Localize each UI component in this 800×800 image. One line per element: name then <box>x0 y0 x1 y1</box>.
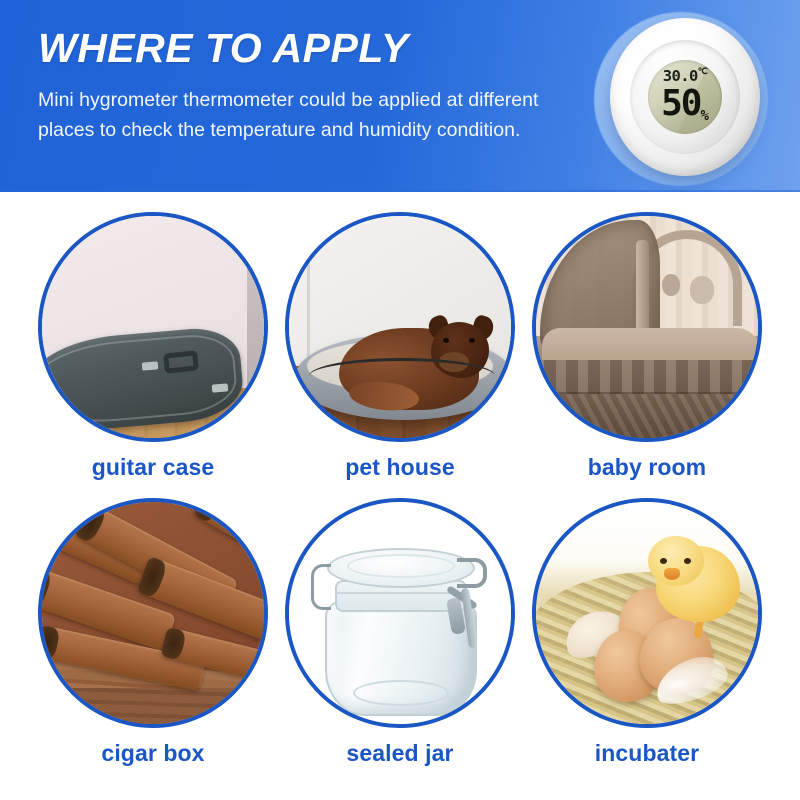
grid-item-baby-room: baby room <box>522 212 772 481</box>
hygrometer-thermometer-image: 30.0℃ 50% <box>586 6 776 192</box>
hanging-toy <box>690 276 714 304</box>
scene-baby-room <box>536 216 758 438</box>
lcd-humidity-reading: 50% <box>648 83 722 124</box>
grid-item-guitar-case: guitar case <box>28 212 278 481</box>
chick-beak <box>664 568 680 580</box>
photo-circle-guitar-case <box>38 212 268 442</box>
hanging-toy <box>662 274 680 296</box>
page-title: WHERE TO APPLY <box>38 25 409 71</box>
case-latch <box>142 361 159 370</box>
grid-item-sealed-jar: sealed jar <box>275 498 525 767</box>
scene-pet-house <box>289 216 511 438</box>
scene-sealed-jar <box>289 502 511 724</box>
bassinet-lace <box>536 394 758 438</box>
photo-circle-incubator <box>532 498 762 728</box>
banner-description: Mini hygrometer thermometer could be app… <box>38 85 563 145</box>
caption-guitar-case: guitar case <box>28 454 278 481</box>
chick-eye <box>660 558 667 564</box>
jar-lid-inner-ring <box>347 554 455 578</box>
thermometer-bezel: 30.0℃ 50% <box>630 40 740 154</box>
wall-corner <box>307 216 310 366</box>
jar-wire-bail-left <box>311 564 331 610</box>
thermometer-body: 30.0℃ 50% <box>610 18 760 176</box>
chick-eye <box>684 558 691 564</box>
lcd-temperature-unit: ℃ <box>698 67 708 77</box>
grid-item-cigar-box: cigar box <box>28 498 278 767</box>
caption-pet-house: pet house <box>275 454 525 481</box>
grid-item-incubator: incubater <box>522 498 772 767</box>
dog-eye <box>443 338 449 343</box>
wooden-box-front <box>42 688 264 724</box>
scene-incubator <box>536 502 758 724</box>
caption-sealed-jar: sealed jar <box>275 740 525 767</box>
wall-edge <box>247 216 264 388</box>
photo-circle-pet-house <box>285 212 515 442</box>
caption-cigar-box: cigar box <box>28 740 278 767</box>
jar-base <box>353 680 449 706</box>
photo-circle-baby-room <box>532 212 762 442</box>
product-infographic: WHERE TO APPLY Mini hygrometer thermomet… <box>0 0 800 800</box>
banner-divider <box>0 190 800 192</box>
lcd-humidity-unit: % <box>700 108 708 124</box>
pet-bed-trim <box>309 358 495 394</box>
grid-item-pet-house: pet house <box>275 212 525 481</box>
thermometer-lcd-screen: 30.0℃ 50% <box>648 60 722 134</box>
case-handle <box>163 350 199 373</box>
caption-incubator: incubater <box>522 740 772 767</box>
header-banner: WHERE TO APPLY Mini hygrometer thermomet… <box>0 0 800 192</box>
scene-guitar-case <box>42 216 264 438</box>
application-grid: guitar case <box>0 200 800 800</box>
jar-wire-bail-right <box>457 558 487 588</box>
scene-cigar-box <box>42 502 264 724</box>
dog-eye <box>469 338 475 343</box>
bassinet-ruffle <box>536 360 758 394</box>
photo-circle-sealed-jar <box>285 498 515 728</box>
photo-circle-cigar-box <box>38 498 268 728</box>
lcd-humidity-value: 50 <box>661 83 700 124</box>
case-latch <box>212 383 229 392</box>
caption-baby-room: baby room <box>522 454 772 481</box>
